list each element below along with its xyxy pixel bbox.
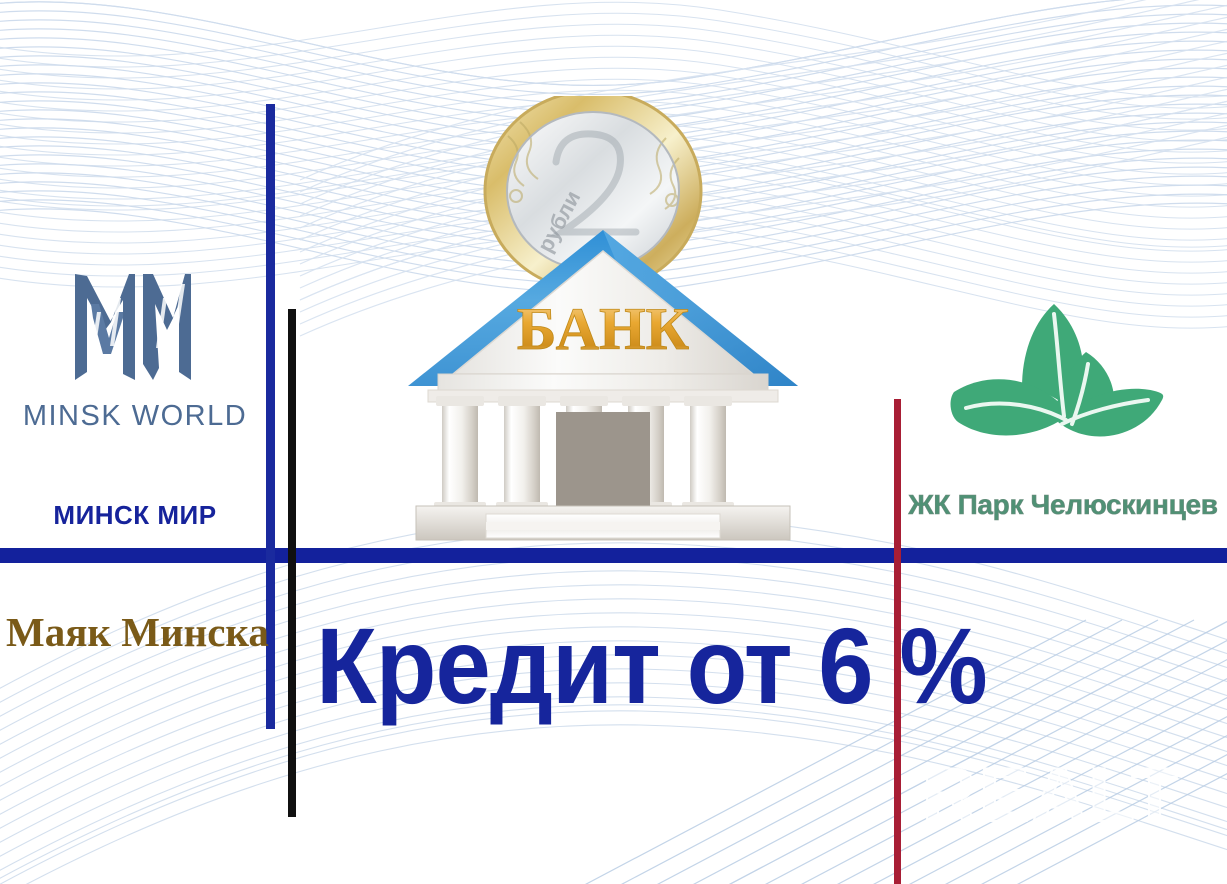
bank-pediment: БАНК bbox=[428, 251, 778, 402]
realt-watermark: REALT bbox=[922, 752, 1180, 839]
park-cheluskintsev-label: ЖК Парк Челюскинцев bbox=[908, 489, 1218, 521]
horizontal-rule-blue bbox=[0, 548, 1227, 563]
bank-building-illustration: рубли БАНК bbox=[398, 96, 808, 546]
bank-pediment-text: БАНК bbox=[517, 296, 689, 362]
minsk-mir-label: МИНСК МИР bbox=[20, 500, 250, 531]
minsk-world-wordmark: MINSK WORLD bbox=[20, 400, 250, 433]
vertical-rule-black bbox=[288, 309, 296, 817]
park-cheluskintsev-logo bbox=[908, 296, 1208, 479]
bank-base bbox=[416, 506, 790, 540]
green-leaves-icon bbox=[936, 296, 1180, 474]
minsk-world-logo: MINSK WORLD bbox=[20, 268, 250, 433]
bank-doorway bbox=[556, 412, 650, 508]
mayak-minska-label: Маяк Минска bbox=[6, 608, 262, 656]
minsk-world-mw-monogram-icon bbox=[67, 268, 203, 390]
credit-offer-poster: REALT MINSK WORLD МИН bbox=[0, 0, 1227, 884]
headline-credit-rate: Кредит от 6 % bbox=[316, 612, 987, 720]
